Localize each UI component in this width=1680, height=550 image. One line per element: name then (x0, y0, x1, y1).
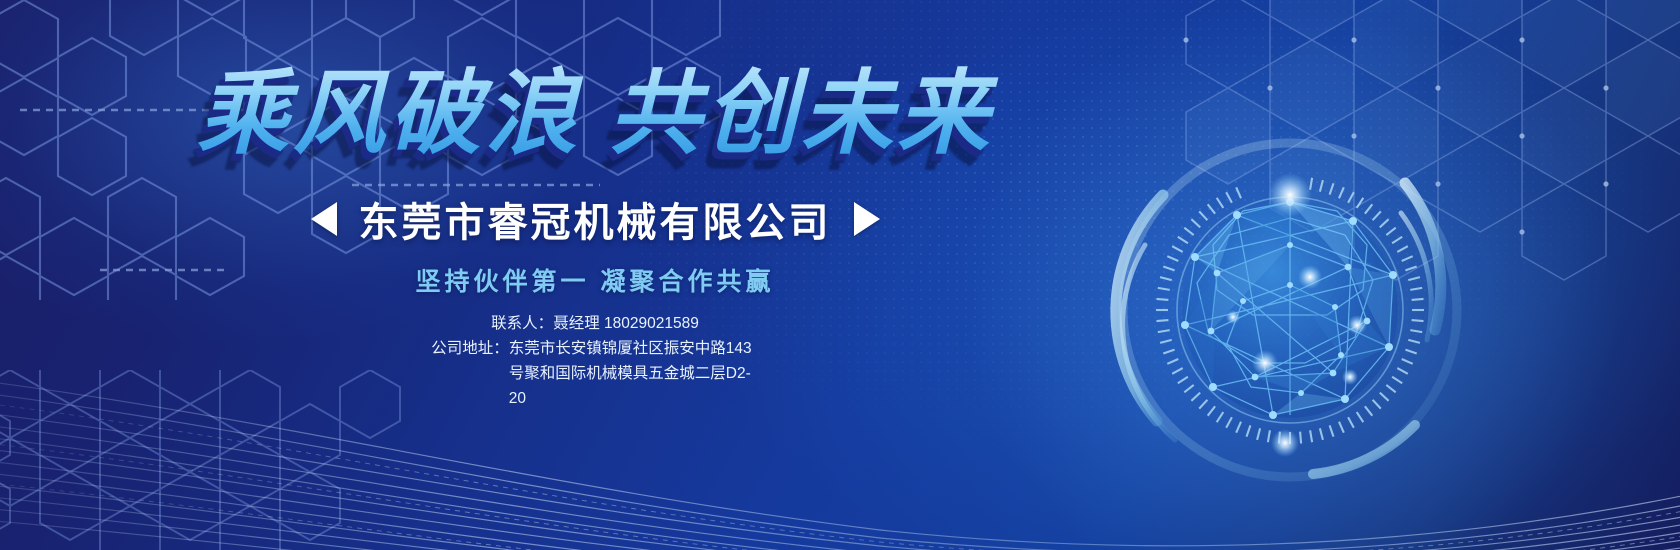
contact-person-label: 联系人： (491, 311, 553, 336)
promotional-banner: 乘风破浪共创未来 东莞市睿冠机械有限公司 坚持伙伴第一 凝聚合作共赢 联系人： … (0, 0, 1680, 550)
contact-info-block: 联系人： 聂经理 18029021589 公司地址： 东莞市长安镇锦厦社区振安中… (0, 311, 1190, 411)
company-name-row: 东莞市睿冠机械有限公司 (0, 190, 1190, 248)
banner-text-content: 乘风破浪共创未来 东莞市睿冠机械有限公司 坚持伙伴第一 凝聚合作共赢 联系人： … (0, 0, 1190, 550)
contact-person-value: 聂经理 18029021589 (553, 311, 699, 336)
company-address-label: 公司地址： (431, 336, 509, 411)
left-triangle-icon (311, 202, 337, 236)
company-address-line: 公司地址： 东莞市长安镇锦厦社区振安中路143号聚和国际机械模具五金城二层D2-… (431, 336, 759, 411)
contact-person-line: 联系人： 聂经理 18029021589 (491, 311, 699, 336)
main-headline: 乘风破浪共创未来 (0, 62, 1190, 168)
slogan-text: 坚持伙伴第一 凝聚合作共赢 (0, 262, 1190, 298)
company-address-value: 东莞市长安镇锦厦社区振安中路143号聚和国际机械模具五金城二层D2-20 (509, 336, 759, 411)
company-name: 东莞市睿冠机械有限公司 (359, 190, 832, 248)
headline-part-1: 乘风破浪 (197, 63, 581, 165)
headline-part-2: 共创未来 (609, 63, 993, 165)
right-triangle-icon (854, 202, 880, 236)
